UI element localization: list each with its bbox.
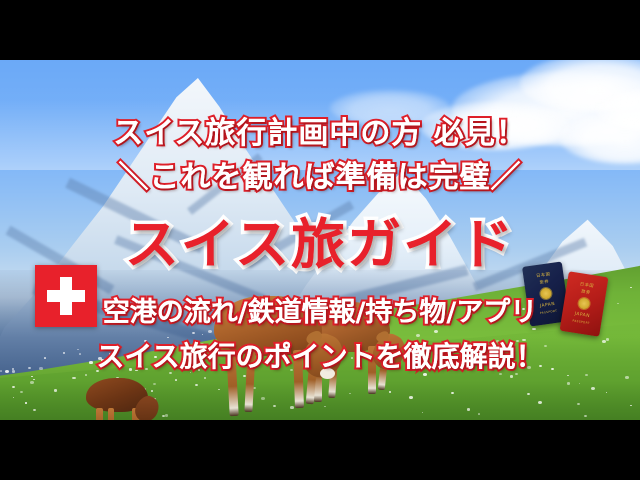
passport-sublabel: PASSPORT [572, 319, 590, 325]
flower-speck [44, 357, 46, 359]
flower-speck [129, 368, 132, 370]
cow [86, 378, 160, 420]
flower-speck [591, 387, 595, 390]
flower-speck [89, 361, 92, 364]
passport-text-bottom: 旅券 [539, 279, 549, 284]
video-thumbnail: 日本国 旅券 JAPAN PASSPORT 日本国 旅券 JAPAN PASSP… [0, 0, 640, 480]
flower-speck [54, 389, 58, 392]
passport-sublabel: PASSPORT [540, 310, 558, 315]
passport-group: 日本国 旅券 JAPAN PASSPORT 日本国 旅券 JAPAN PASSP… [524, 256, 620, 348]
flower-speck [204, 377, 206, 378]
background-photo: 日本国 旅券 JAPAN PASSPORT 日本国 旅券 JAPAN PASSP… [0, 60, 640, 420]
flower-speck [452, 347, 454, 348]
flower-speck [13, 397, 15, 398]
flower-speck [39, 367, 42, 370]
flower-speck [630, 287, 632, 288]
flower-speck [145, 368, 147, 370]
cloud-icon [330, 90, 450, 126]
flower-speck [162, 415, 165, 417]
flower-speck [25, 402, 27, 403]
flower-speck [606, 392, 608, 393]
cow-snout [320, 368, 335, 379]
flower-speck [109, 353, 112, 355]
chrysanthemum-emblem-icon [540, 287, 552, 299]
flower-speck [625, 376, 629, 379]
flower-speck [405, 307, 409, 310]
letterbox-bar-top [0, 0, 640, 60]
flower-speck [551, 368, 554, 370]
flower-speck [31, 376, 33, 377]
cow-leg [226, 350, 238, 416]
flower-speck [630, 405, 632, 406]
japan-passport-red-icon: 日本国 旅券 JAPAN PASSPORT [560, 271, 609, 337]
flower-speck [72, 377, 75, 380]
cow-leg [244, 350, 255, 412]
flower-speck [584, 415, 587, 417]
flag-cross-horizontal [47, 290, 85, 302]
swiss-flag-icon [35, 265, 97, 327]
flower-speck [467, 408, 470, 410]
flower-speck [510, 375, 513, 377]
cow-leg [96, 408, 103, 420]
flower-speck [0, 370, 2, 372]
flower-speck [144, 340, 147, 342]
flower-speck [585, 374, 587, 376]
flower-speck [154, 356, 156, 358]
flower-speck [193, 353, 195, 355]
letterbox-bar-bottom [0, 420, 640, 480]
passport-text-bottom: 旅券 [581, 289, 591, 295]
flower-speck [5, 370, 9, 373]
flower-speck [165, 414, 168, 416]
flower-speck [192, 332, 195, 334]
chrysanthemum-emblem-icon [578, 297, 591, 310]
flower-speck [30, 381, 34, 384]
flower-speck [12, 370, 16, 373]
flower-speck [12, 368, 14, 370]
flower-speck [516, 340, 519, 342]
flower-speck [169, 372, 172, 374]
flower-speck [567, 382, 571, 385]
cow-leg [108, 408, 114, 420]
flower-speck [416, 334, 420, 337]
flower-speck [420, 367, 423, 370]
flower-speck [496, 340, 500, 343]
flower-speck [499, 373, 501, 375]
cow [208, 288, 338, 420]
flower-speck [423, 373, 427, 376]
